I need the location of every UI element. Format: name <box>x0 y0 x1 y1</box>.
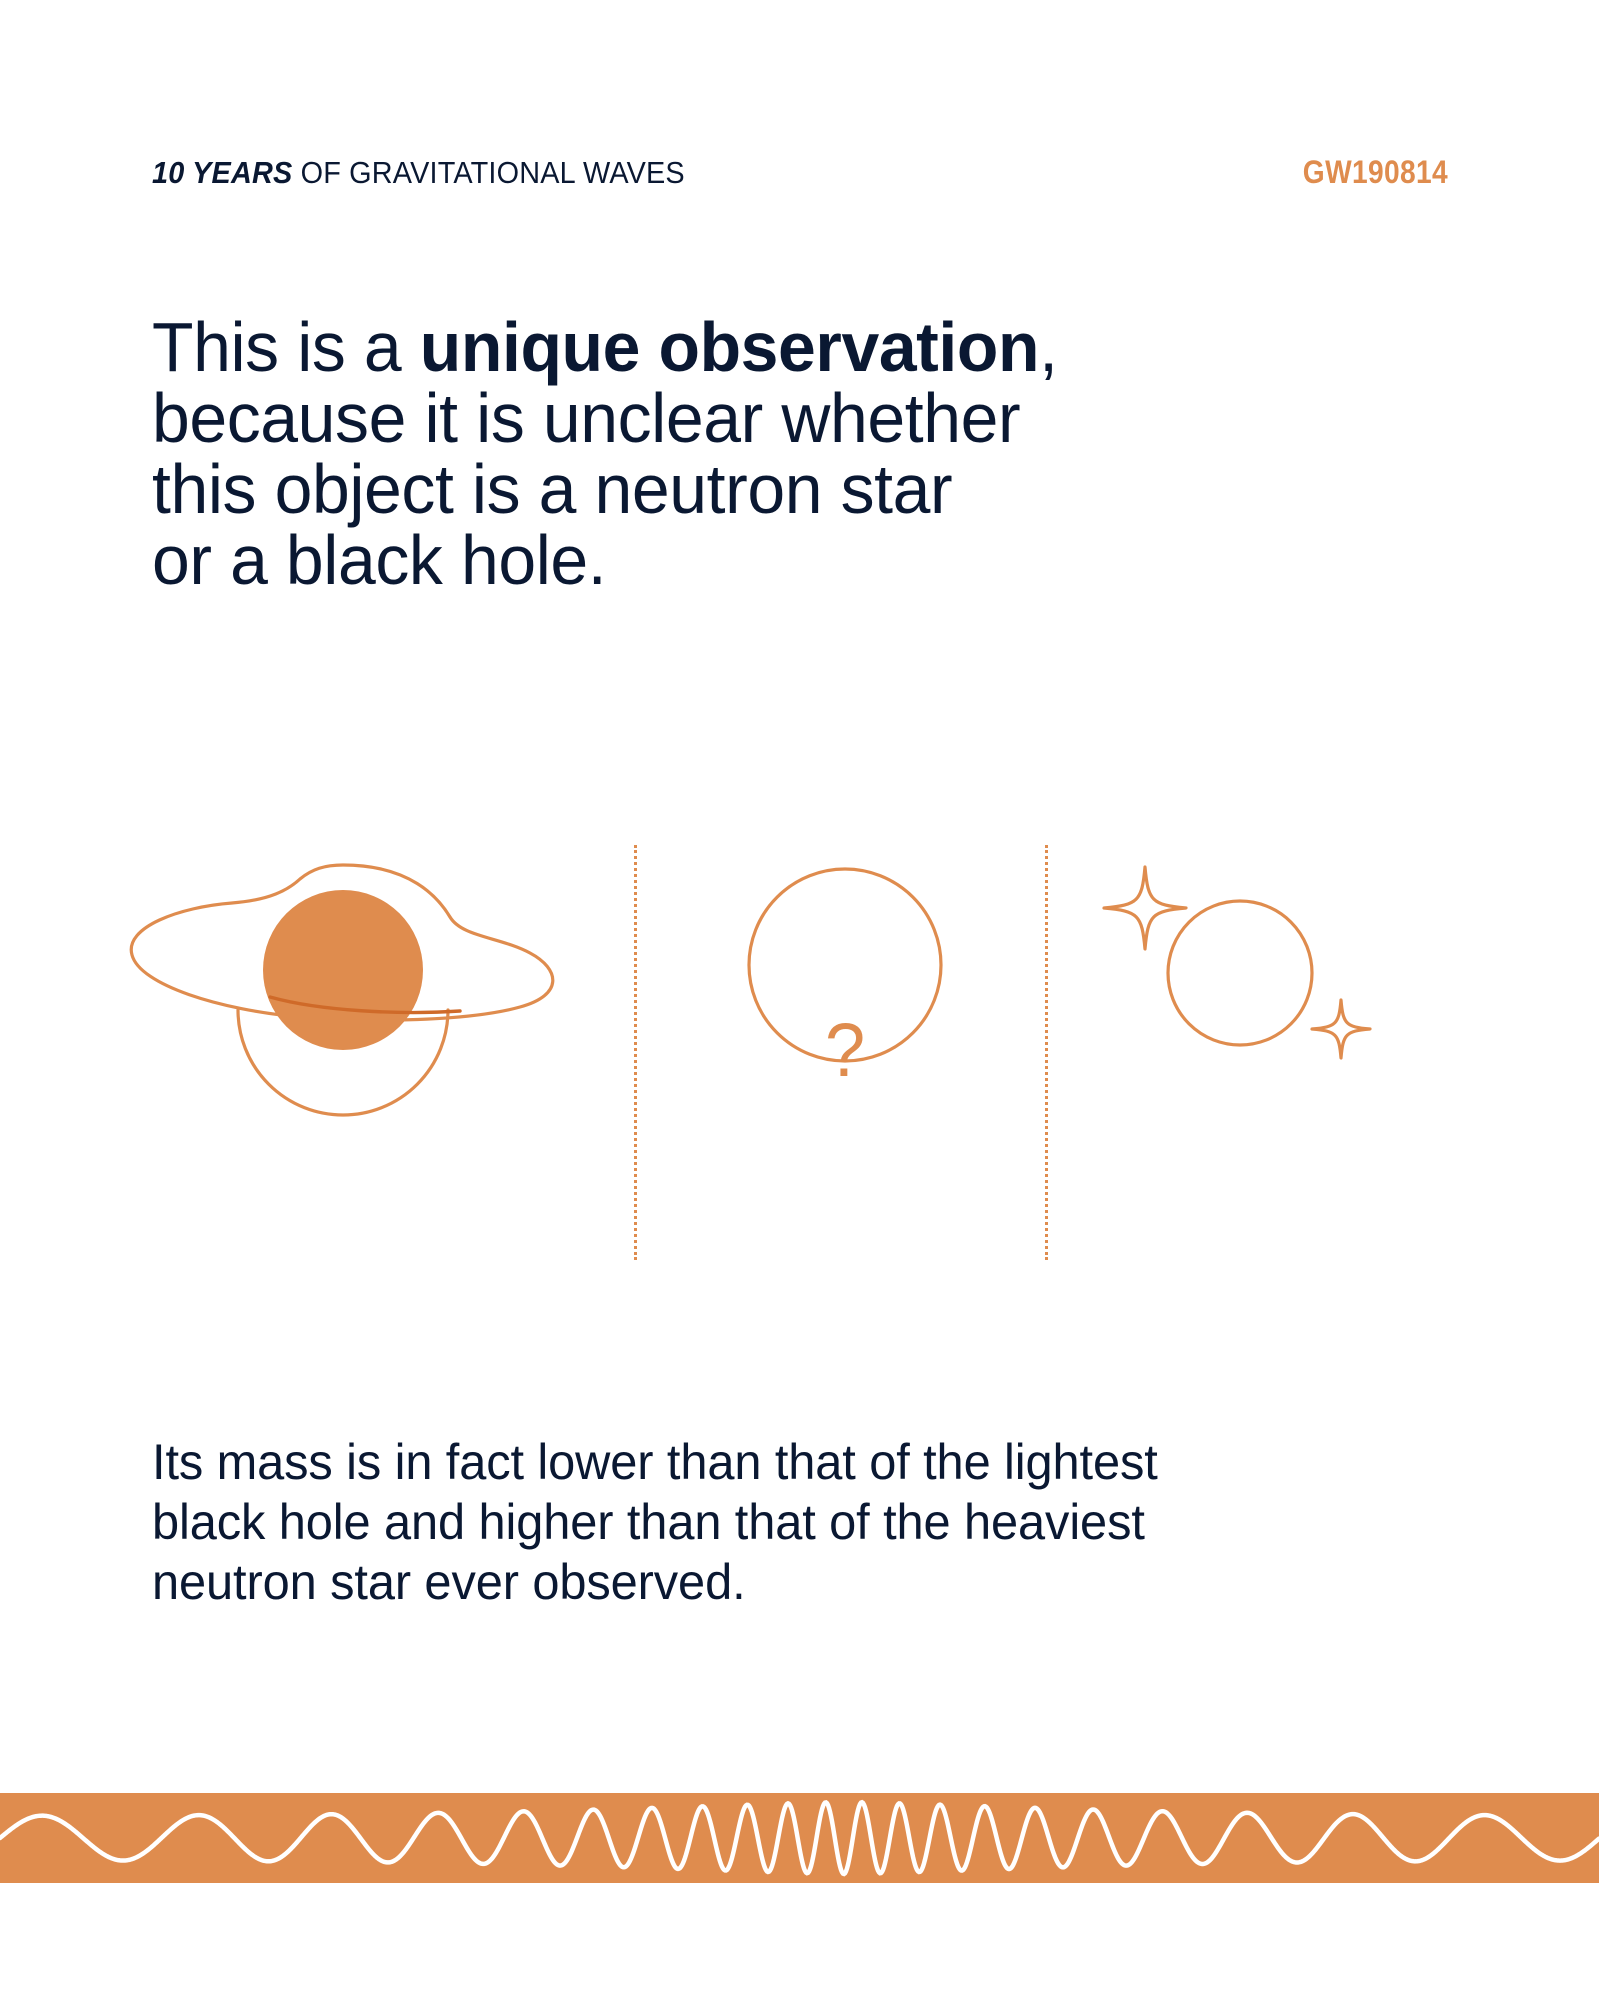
body-line-3: neutron star ever observed. <box>152 1552 1439 1612</box>
headline-line-4: or a black hole. <box>152 525 1365 596</box>
header-kicker-emphasis: 10 YEARS <box>152 155 292 190</box>
body-line-1: Its mass is in fact lower than that of t… <box>152 1432 1439 1492</box>
headline-emphasis: unique observation <box>420 308 1039 386</box>
unknown-object-circle-icon <box>680 845 1010 1260</box>
object-comparison-row: ? <box>0 845 1599 1265</box>
black-hole-cell <box>120 845 600 1260</box>
page-header: 10 YEARS OF GRAVITATIONAL WAVES GW190814 <box>152 154 1448 198</box>
neutron-star-icon <box>1090 845 1490 1260</box>
gravitational-wave-chirp-icon <box>0 1793 1599 1883</box>
neutron-star-cell <box>1090 845 1490 1260</box>
divider-right <box>1045 845 1048 1260</box>
headline-line-1-plain: This is a <box>152 308 420 386</box>
header-kicker-rest: OF GRAVITATIONAL WAVES <box>292 155 684 190</box>
page-title: This is a unique observation, because it… <box>152 312 1365 596</box>
headline-line-2: because it is unclear whether <box>152 383 1365 454</box>
headline-line-3: this object is a neutron star <box>152 454 1365 525</box>
header-kicker: 10 YEARS OF GRAVITATIONAL WAVES <box>152 155 685 191</box>
body-line-2: black hole and higher than that of the h… <box>152 1492 1439 1552</box>
event-id-badge: GW190814 <box>1303 154 1448 191</box>
body-paragraph: Its mass is in fact lower than that of t… <box>152 1432 1439 1612</box>
unknown-object-cell: ? <box>680 845 1010 1260</box>
infographic-page: 10 YEARS OF GRAVITATIONAL WAVES GW190814… <box>0 0 1599 2000</box>
headline-line-1-tail: , <box>1039 308 1057 386</box>
footer-wave-band <box>0 1793 1599 1883</box>
divider-left <box>634 845 637 1260</box>
black-hole-icon <box>120 845 600 1260</box>
headline-line-1: This is a unique observation, <box>152 312 1365 383</box>
